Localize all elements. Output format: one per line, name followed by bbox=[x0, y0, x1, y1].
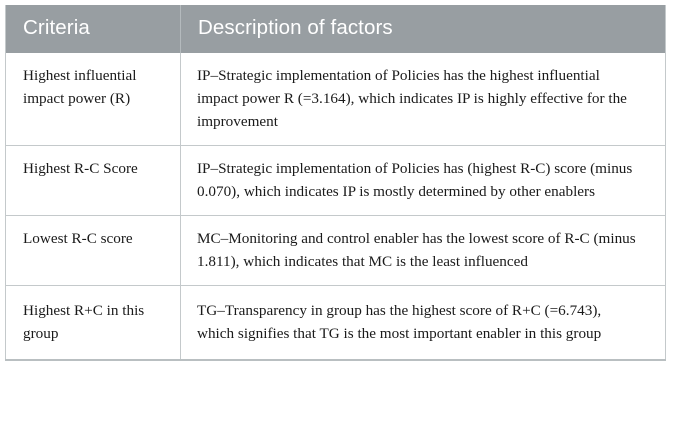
cell-description: IP–Strategic implementation of Policies … bbox=[181, 145, 666, 215]
table-row: Highest influential impact power (R) IP–… bbox=[6, 53, 666, 146]
criteria-description-table: Criteria Description of factors Highest … bbox=[5, 5, 666, 361]
table-container: Criteria Description of factors Highest … bbox=[0, 0, 673, 424]
column-header-description: Description of factors bbox=[181, 5, 666, 53]
table-header: Criteria Description of factors bbox=[6, 5, 666, 53]
cell-description: MC–Monitoring and control enabler has th… bbox=[181, 216, 666, 286]
cell-criteria: Highest R+C in this group bbox=[6, 286, 181, 361]
table-row: Highest R+C in this group TG–Transparenc… bbox=[6, 286, 666, 361]
cell-criteria: Lowest R-C score bbox=[6, 216, 181, 286]
cell-description: IP–Strategic implementation of Policies … bbox=[181, 53, 666, 146]
table-body: Highest influential impact power (R) IP–… bbox=[6, 53, 666, 361]
table-row: Highest R-C Score IP–Strategic implement… bbox=[6, 145, 666, 215]
column-header-criteria: Criteria bbox=[6, 5, 181, 53]
table-row: Lowest R-C score MC–Monitoring and contr… bbox=[6, 216, 666, 286]
cell-description: TG–Transparency in group has the highest… bbox=[181, 286, 666, 361]
cell-criteria: Highest influential impact power (R) bbox=[6, 53, 181, 146]
table-header-row: Criteria Description of factors bbox=[6, 5, 666, 53]
cell-criteria: Highest R-C Score bbox=[6, 145, 181, 215]
